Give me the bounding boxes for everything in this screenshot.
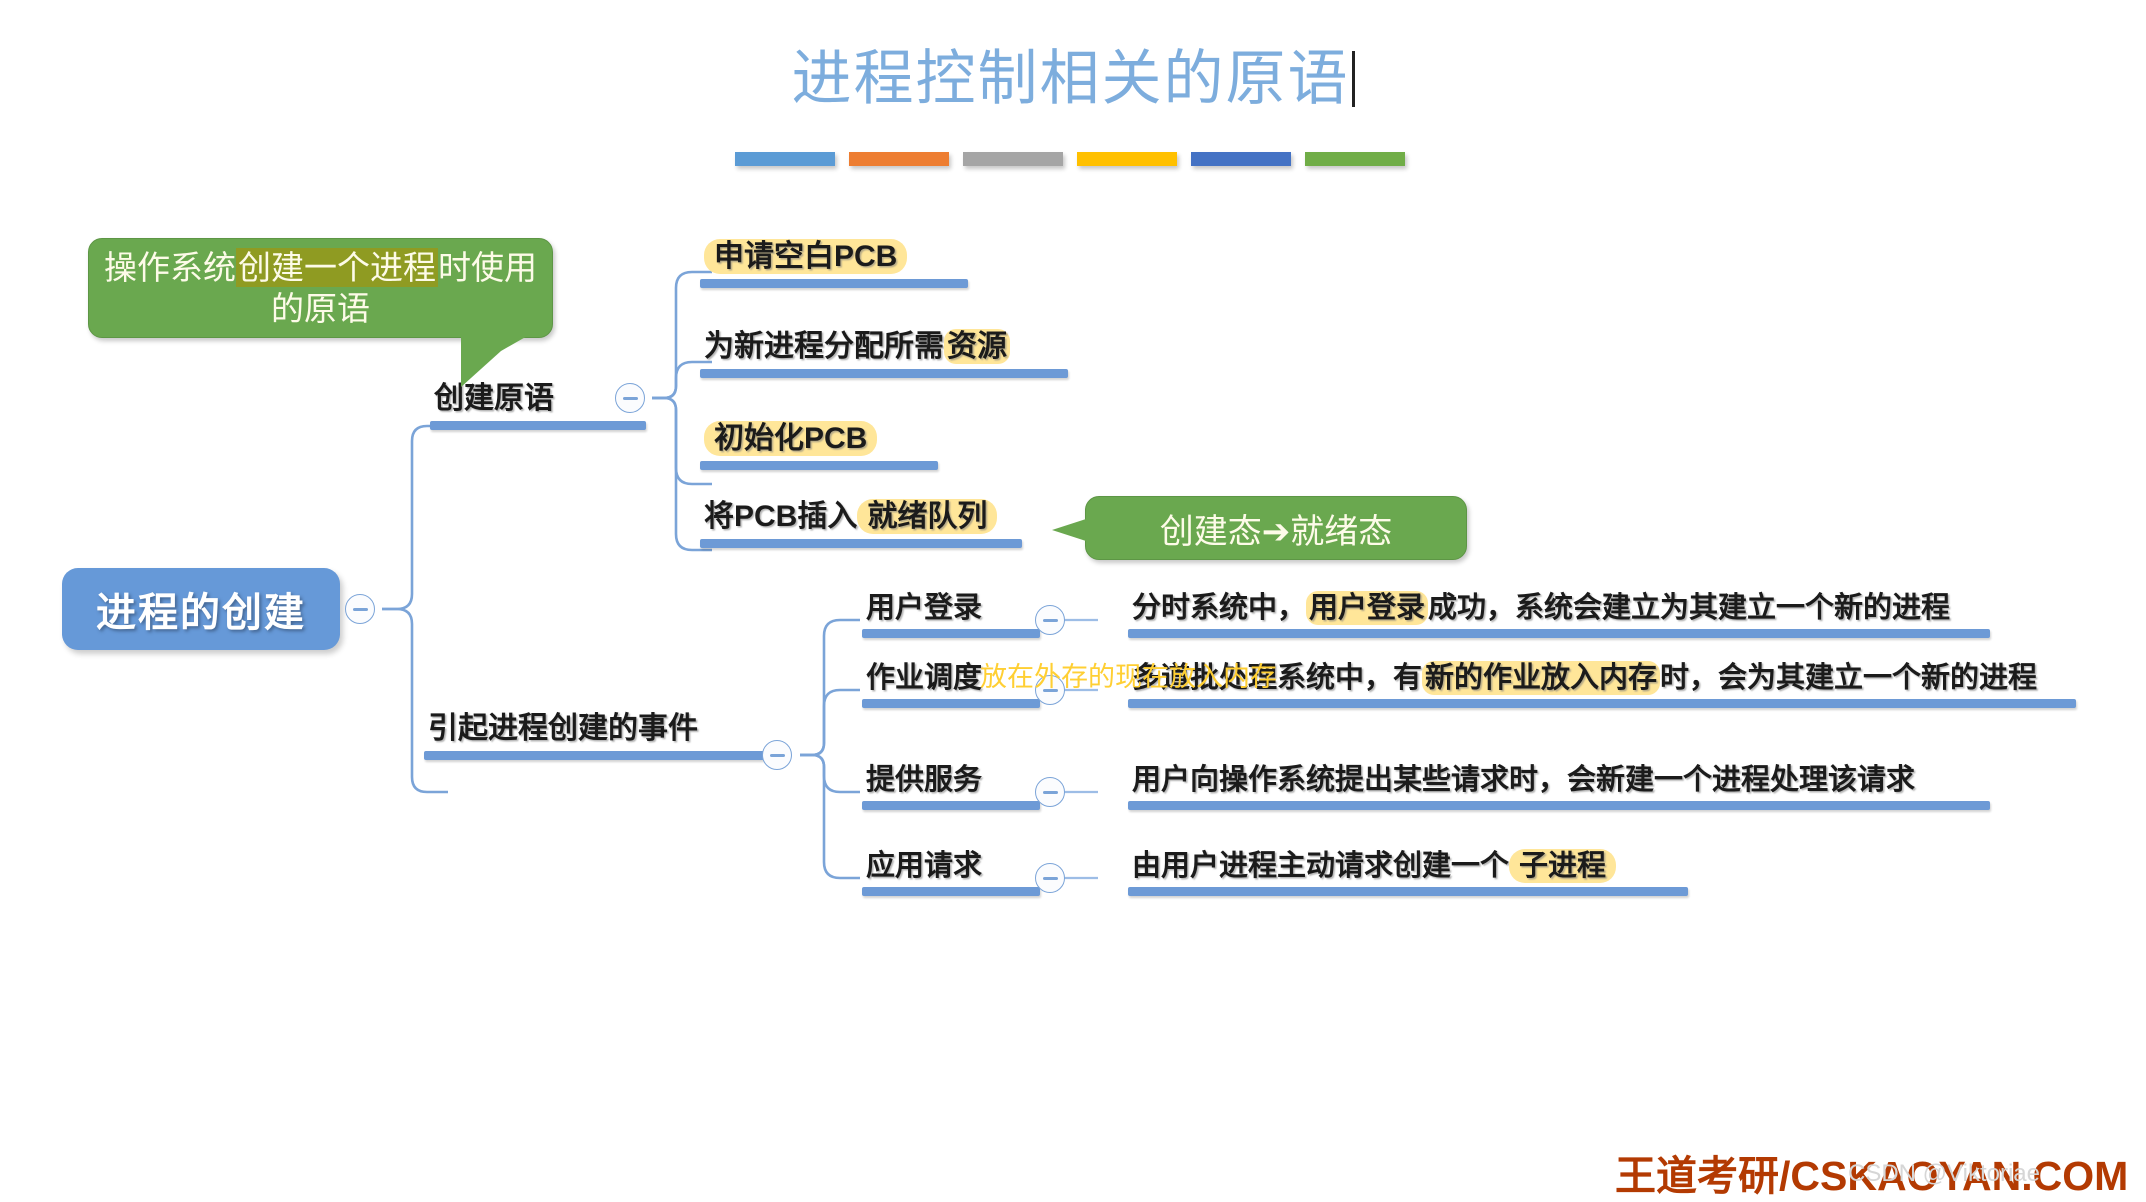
node-application-request-label: 应用请求 (862, 850, 986, 887)
highlight-text: 创建一个进程 (236, 248, 438, 287)
highlight-text: 资源 (944, 329, 1010, 364)
collapse-toggle-user-login[interactable] (1035, 605, 1065, 635)
watermark-csdn: CSDN @Viktoriae (1848, 1160, 2040, 1188)
node-underline (430, 421, 646, 430)
node-underline (1128, 801, 1990, 810)
node-underline (862, 887, 1040, 896)
node-provide-service-detail[interactable]: 用户向操作系统提出某些请求时，会新建一个进程处理该请求 (1128, 764, 1990, 810)
node-init-pcb-label: 初始化PCB (700, 422, 881, 461)
node-create-primitive[interactable]: 创建原语 (430, 382, 646, 430)
node-application-request-detail-label: 由用户进程主动请求创建一个子进程 (1128, 850, 1620, 887)
collapse-toggle-create-primitive[interactable] (615, 383, 645, 413)
mindmap-canvas: 进程控制相关的原语 (0, 0, 2146, 1196)
node-provide-service[interactable]: 提供服务 (862, 764, 1040, 810)
collapse-toggle-application-request[interactable] (1035, 863, 1065, 893)
bar-gray (963, 152, 1063, 166)
callout-tail (461, 335, 529, 387)
color-bar-strip (735, 152, 1405, 166)
bar-orange (849, 152, 949, 166)
root-node-label: 进程的创建 (96, 580, 306, 638)
collapse-toggle-provide-service[interactable] (1035, 777, 1065, 807)
node-underline (424, 751, 776, 760)
node-creation-events-label: 引起进程创建的事件 (424, 712, 702, 751)
node-user-login-detail-label: 分时系统中，用户登录成功，系统会建立为其建立一个新的进程 (1128, 592, 1954, 629)
node-user-login-detail[interactable]: 分时系统中，用户登录成功，系统会建立为其建立一个新的进程 (1128, 592, 1990, 638)
bar-blue (735, 152, 835, 166)
node-underline (700, 539, 1022, 548)
plain-text-tail: 成功，系统会建立为其建立一个新的进程 (1428, 592, 1950, 624)
node-underline (700, 279, 968, 288)
node-provide-service-detail-label: 用户向操作系统提出某些请求时，会新建一个进程处理该请求 (1128, 764, 1919, 801)
node-apply-blank-pcb[interactable]: 申请空白PCB (700, 240, 968, 288)
node-underline (700, 461, 938, 470)
callout-creation-primitive-text: 操作系统创建一个进程时使用的原语 (99, 247, 542, 330)
node-init-pcb[interactable]: 初始化PCB (700, 422, 938, 470)
node-creation-events[interactable]: 引起进程创建的事件 (424, 712, 776, 760)
node-underline (862, 801, 1040, 810)
plain-text: 操作系统 (104, 248, 236, 287)
node-allocate-resources-label: 为新进程分配所需资源 (700, 330, 1014, 369)
node-insert-ready-queue-label: 将PCB插入就绪队列 (700, 500, 1001, 539)
root-node-process-creation[interactable]: 进程的创建 (62, 568, 340, 650)
collapse-toggle-creation-events[interactable] (762, 740, 792, 770)
plain-text: 将PCB插入 (704, 500, 857, 533)
highlight-text: 申请空白PCB (704, 239, 907, 274)
node-underline (700, 369, 1068, 378)
plain-text: 由用户进程主动请求创建一个 (1132, 850, 1509, 882)
node-application-request-detail[interactable]: 由用户进程主动请求创建一个子进程 (1128, 850, 1688, 896)
highlight-text: 子进程 (1509, 849, 1616, 883)
page-title: 进程控制相关的原语 (0, 30, 2146, 117)
node-user-login[interactable]: 用户登录 (862, 592, 1040, 638)
bar-yellow (1077, 152, 1177, 166)
page-title-text: 进程控制相关的原语 (792, 44, 1350, 114)
node-apply-blank-pcb-label: 申请空白PCB (700, 240, 911, 279)
node-user-login-label: 用户登录 (862, 592, 986, 629)
node-allocate-resources[interactable]: 为新进程分配所需资源 (700, 330, 1068, 378)
bar-darkblue (1191, 152, 1291, 166)
node-application-request[interactable]: 应用请求 (862, 850, 1040, 896)
collapse-toggle-root[interactable] (345, 594, 375, 624)
note-memory-annotation: 放在外存的现在放入内存 (980, 655, 1277, 694)
callout-state-transition[interactable]: 创建态➔就绪态 (1085, 496, 1467, 560)
text-cursor (1352, 51, 1355, 107)
bar-green (1305, 152, 1405, 166)
node-job-scheduling-label: 作业调度 (862, 662, 986, 699)
node-underline (1128, 699, 2076, 708)
highlight-text: 用户登录 (1306, 591, 1428, 625)
node-provide-service-label: 提供服务 (862, 764, 986, 801)
highlight-text: 初始化PCB (704, 421, 877, 456)
node-underline (862, 629, 1040, 638)
plain-text: 为新进程分配所需 (704, 330, 944, 363)
highlight-text: 就绪队列 (857, 499, 997, 534)
node-create-primitive-label: 创建原语 (430, 382, 558, 421)
plain-text-tail: 时，会为其建立一个新的进程 (1660, 662, 2037, 694)
callout-tail (1052, 519, 1086, 541)
highlight-text: 新的作业放入内存 (1422, 661, 1660, 695)
callout-creation-primitive[interactable]: 操作系统创建一个进程时使用的原语 (88, 238, 553, 338)
node-underline (1128, 887, 1688, 896)
node-underline (1128, 629, 1990, 638)
node-insert-ready-queue[interactable]: 将PCB插入就绪队列 (700, 500, 1022, 548)
plain-text: 分时系统中， (1132, 592, 1306, 624)
callout-state-transition-text: 创建态➔就绪态 (1160, 504, 1393, 553)
node-underline (862, 699, 1040, 708)
